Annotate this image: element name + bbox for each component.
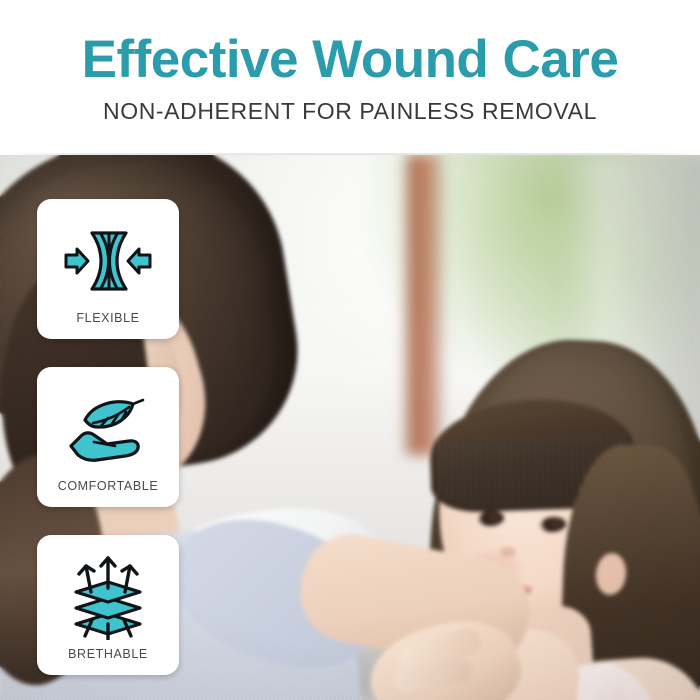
header-divider (0, 153, 700, 155)
feature-badge-comfortable[interactable]: COMFORTABLE (37, 367, 179, 507)
feature-badge-list: FLEXIBLE (37, 199, 179, 675)
feature-badge-flexible[interactable]: FLEXIBLE (37, 199, 179, 339)
banner-header: Effective Wound Care NON-ADHERENT FOR PA… (0, 0, 700, 155)
flexible-stretch-icon (62, 219, 154, 303)
photo-background-post (403, 155, 443, 455)
feature-badge-label: COMFORTABLE (58, 479, 159, 493)
breathable-layers-icon (62, 555, 154, 639)
product-banner: Effective Wound Care NON-ADHERENT FOR PA… (0, 0, 700, 700)
feature-badge-breathable[interactable]: BRETHABLE (37, 535, 179, 675)
hand-holding-feather-icon (62, 387, 154, 471)
feature-badge-label: FLEXIBLE (76, 311, 139, 325)
feature-badge-label: BRETHABLE (68, 647, 148, 661)
page-title: Effective Wound Care (82, 33, 619, 86)
girl-nose (500, 547, 516, 557)
page-subtitle: NON-ADHERENT FOR PAINLESS REMOVAL (103, 100, 597, 123)
